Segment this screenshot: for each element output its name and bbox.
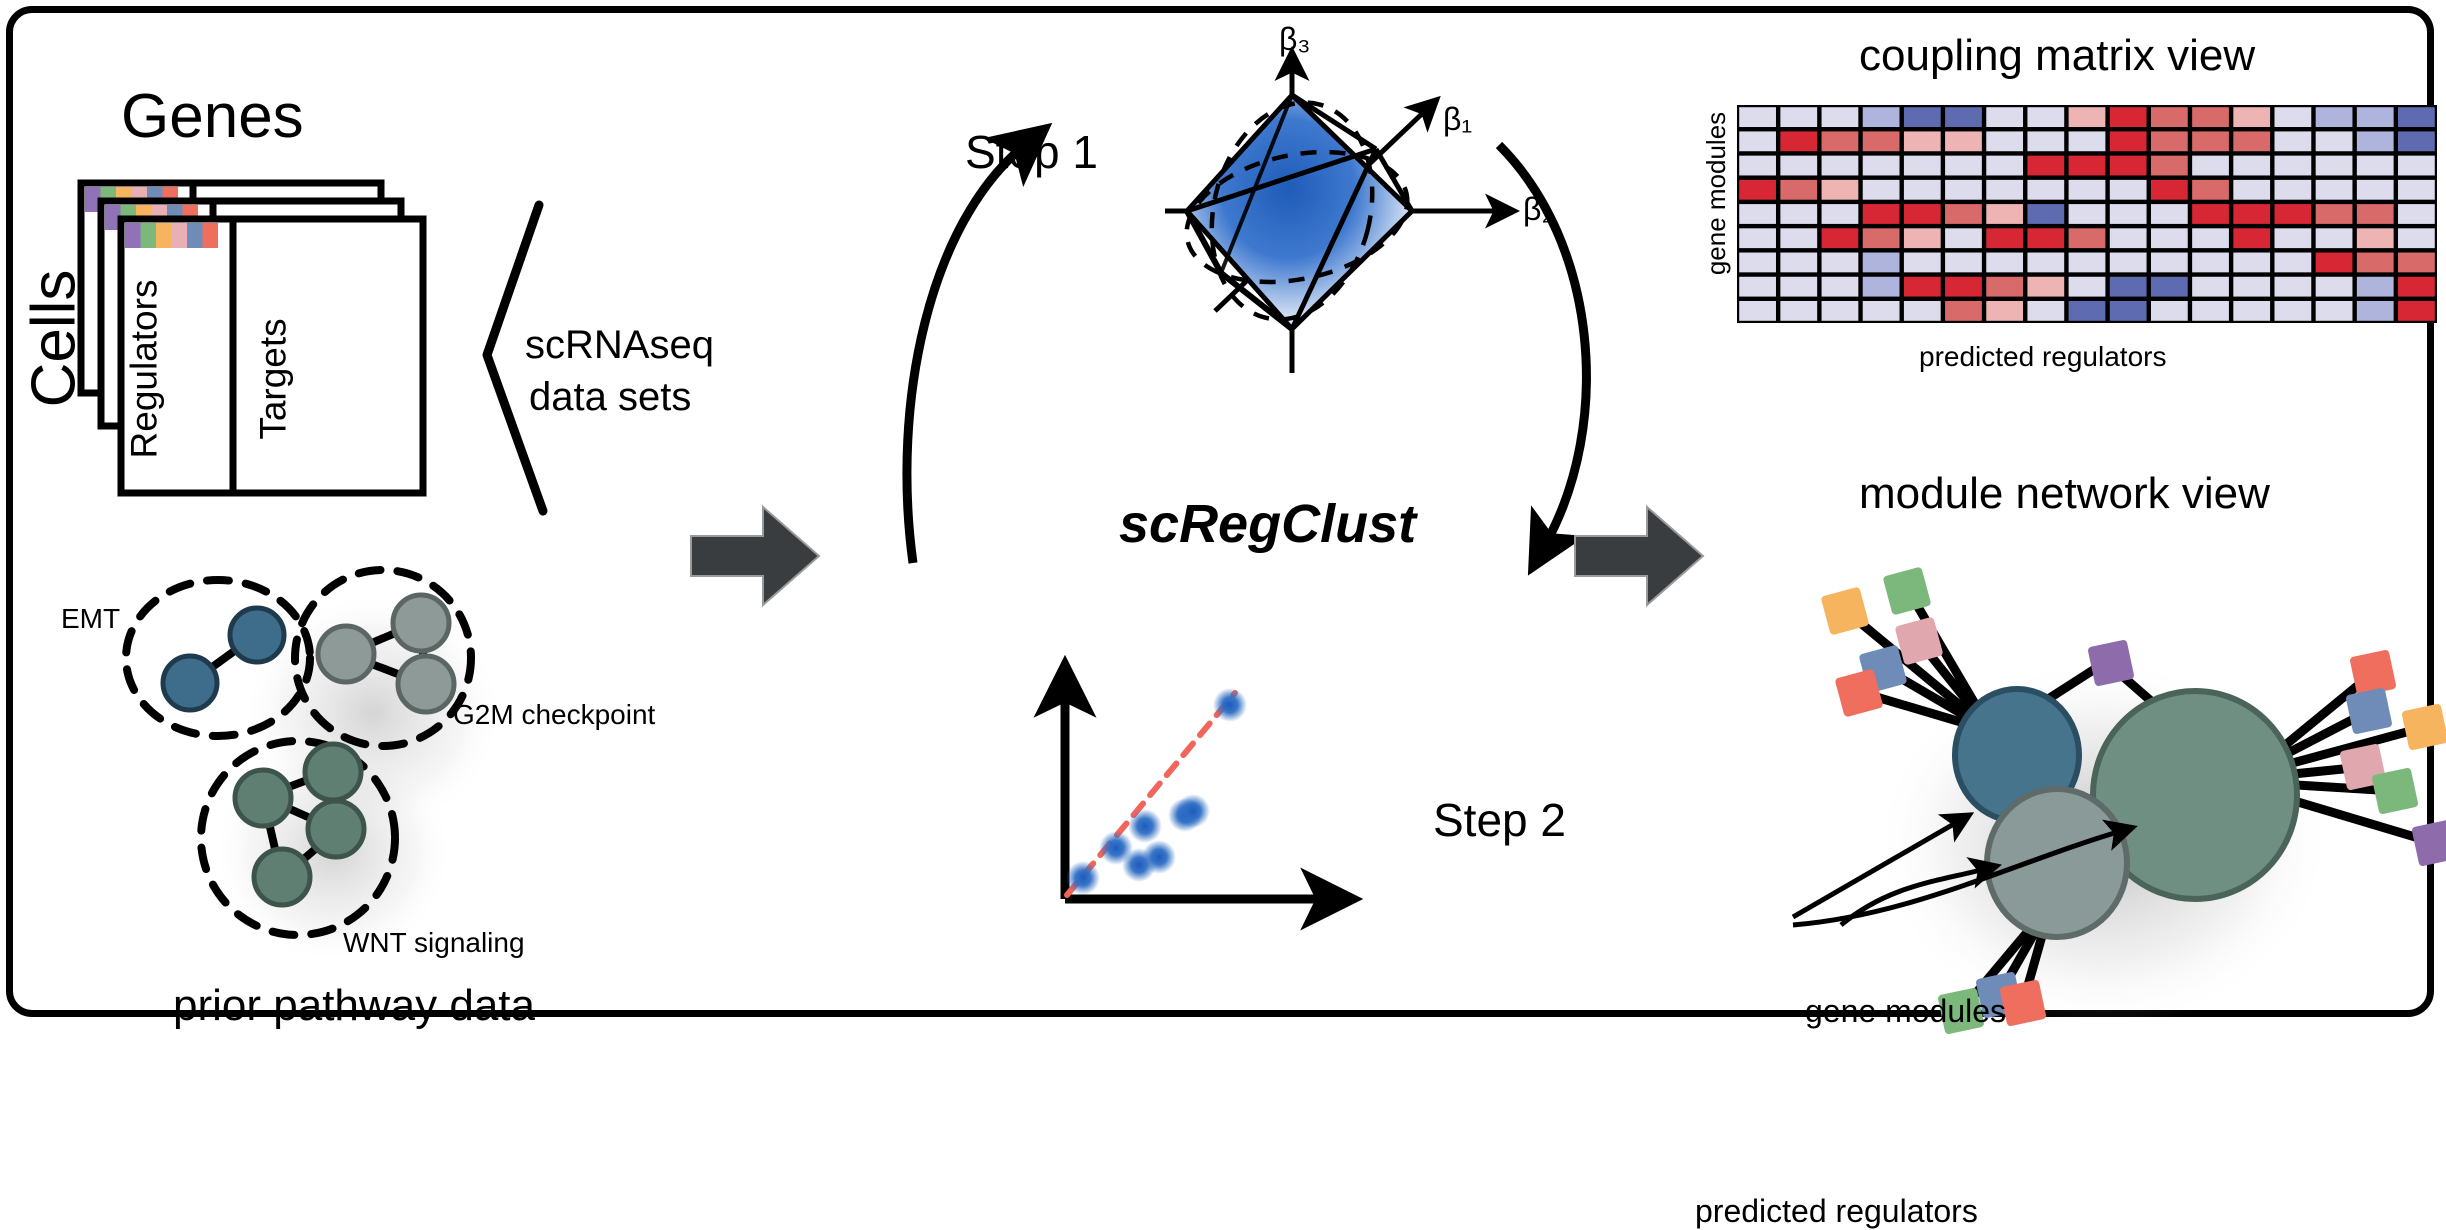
heatmap-cell[interactable] xyxy=(1986,156,2023,176)
heatmap-cell[interactable] xyxy=(1780,204,1817,224)
heatmap-cell[interactable] xyxy=(2233,228,2270,248)
heatmap-cell[interactable] xyxy=(2069,204,2106,224)
heatmap-cell[interactable] xyxy=(1780,156,1817,176)
heatmap-cell[interactable] xyxy=(2274,253,2311,273)
heatmap-cell[interactable] xyxy=(2398,156,2435,176)
heatmap-cell[interactable] xyxy=(1945,156,1982,176)
heatmap-cell[interactable] xyxy=(2357,228,2394,248)
heatmap-cell[interactable] xyxy=(1739,301,1776,321)
heatmap-cell[interactable] xyxy=(1904,228,1941,248)
pathway-label-wnt: WNT signaling xyxy=(343,927,525,959)
heatmap-cell[interactable] xyxy=(1986,228,2023,248)
axis-label-beta3: β₃ xyxy=(1279,21,1310,58)
heatmap-cell[interactable] xyxy=(1945,180,1982,200)
heatmap-cell[interactable] xyxy=(1739,228,1776,248)
heatmap-cell[interactable] xyxy=(2192,180,2229,200)
heatmap-cell[interactable] xyxy=(2316,180,2353,200)
heatmap-cell[interactable] xyxy=(2192,204,2229,224)
coupling-matrix-ylabel: gene modules xyxy=(1701,112,1732,275)
heatmap-cell[interactable] xyxy=(1945,228,1982,248)
heatmap-cell[interactable] xyxy=(2151,204,2188,224)
heatmap-cell[interactable] xyxy=(2398,204,2435,224)
heatmap-cell[interactable] xyxy=(1739,204,1776,224)
heatmap-cell[interactable] xyxy=(1986,301,2023,321)
heatmap-cell[interactable] xyxy=(2110,301,2147,321)
heatmap-cell[interactable] xyxy=(2357,277,2394,297)
heatmap-cell[interactable] xyxy=(1904,301,1941,321)
heatmap-cell[interactable] xyxy=(2398,107,2435,127)
heatmap-cell[interactable] xyxy=(1780,277,1817,297)
heatmap-cell[interactable] xyxy=(2357,253,2394,273)
heatmap-cell[interactable] xyxy=(2316,301,2353,321)
heatmap-cell[interactable] xyxy=(1904,180,1941,200)
heatmap-cell[interactable] xyxy=(1863,131,1900,151)
heatmap-cell[interactable] xyxy=(1822,156,1859,176)
heatmap-cell[interactable] xyxy=(2151,228,2188,248)
heatmap-cell[interactable] xyxy=(2110,107,2147,127)
heatmap-cell[interactable] xyxy=(2274,131,2311,151)
heatmap-cell[interactable] xyxy=(2233,253,2270,273)
heatmap-cell[interactable] xyxy=(2274,277,2311,297)
heatmap-cell[interactable] xyxy=(1904,107,1941,127)
heatmap-cell[interactable] xyxy=(2274,156,2311,176)
heatmap-cell[interactable] xyxy=(2069,107,2106,127)
heatmap-cell[interactable] xyxy=(2069,228,2106,248)
heatmap-cell[interactable] xyxy=(2274,301,2311,321)
heatmap-cell[interactable] xyxy=(2357,131,2394,151)
heatmap-cell[interactable] xyxy=(2027,180,2064,200)
heatmap-cell[interactable] xyxy=(1739,180,1776,200)
axis-label-beta1: β₁ xyxy=(1443,101,1472,138)
heatmap-cell[interactable] xyxy=(2110,253,2147,273)
heatmap-cell[interactable] xyxy=(1986,253,2023,273)
heatmap-cell[interactable] xyxy=(2357,301,2394,321)
heatmap-cell[interactable] xyxy=(2233,180,2270,200)
heatmap-cell[interactable] xyxy=(1822,131,1859,151)
heatmap-cell[interactable] xyxy=(2027,204,2064,224)
heatmap-cell[interactable] xyxy=(2192,107,2229,127)
module-network-panel: module network view xyxy=(1673,433,2446,1033)
heatmap-cell[interactable] xyxy=(1986,180,2023,200)
regulators-block-label: Regulators xyxy=(123,280,165,459)
heatmap-cell[interactable] xyxy=(2027,156,2064,176)
heatmap-cell[interactable] xyxy=(2316,204,2353,224)
coupling-matrix-xlabel: predicted regulators xyxy=(1919,341,2166,373)
coupling-matrix-title: coupling matrix view xyxy=(1859,31,2255,81)
heatmap-cell[interactable] xyxy=(2192,277,2229,297)
heatmap-cell[interactable] xyxy=(1904,277,1941,297)
heatmap-cell[interactable] xyxy=(1863,204,1900,224)
heatmap-cell[interactable] xyxy=(1945,107,1982,127)
module-network-graph xyxy=(1673,533,2446,1033)
heatmap-cell[interactable] xyxy=(1863,277,1900,297)
heatmap-cell[interactable] xyxy=(2316,107,2353,127)
heatmap-cell[interactable] xyxy=(2151,180,2188,200)
heatmap-cell[interactable] xyxy=(1904,204,1941,224)
scatter-chart xyxy=(1017,663,1437,943)
pathway-label-emt: EMT xyxy=(61,603,120,635)
heatmap-cell[interactable] xyxy=(1780,107,1817,127)
heatmap-cell[interactable] xyxy=(2398,301,2435,321)
heatmap-cell[interactable] xyxy=(2192,156,2229,176)
axis-label-beta2: β₂ xyxy=(1523,191,1554,228)
figure-frame: Genes Cells xyxy=(6,6,2434,1017)
heatmap-cell[interactable] xyxy=(2233,301,2270,321)
heatmap-cell[interactable] xyxy=(2027,228,2064,248)
step2-label: Step 2 xyxy=(1433,793,1566,847)
heatmap-cell[interactable] xyxy=(2069,180,2106,200)
heatmap-cell[interactable] xyxy=(2069,301,2106,321)
heatmap-cell[interactable] xyxy=(1780,301,1817,321)
heatmap-cell[interactable] xyxy=(2398,277,2435,297)
heatmap-cell[interactable] xyxy=(2027,131,2064,151)
heatmap-cell[interactable] xyxy=(1822,301,1859,321)
heatmap-cell[interactable] xyxy=(2274,228,2311,248)
scrnaseq-label-line2: data sets xyxy=(529,375,691,420)
pathway-label-g2m: G2M checkpoint xyxy=(453,699,655,731)
heatmap-cell[interactable] xyxy=(1822,204,1859,224)
heatmap-cell[interactable] xyxy=(1822,107,1859,127)
method-panel: Step 1 Step 2 scRegClust xyxy=(873,13,1633,1023)
heatmap-cell[interactable] xyxy=(2110,204,2147,224)
heatmap-cell[interactable] xyxy=(1739,156,1776,176)
heatmap-cell[interactable] xyxy=(2316,228,2353,248)
heatmap-cell[interactable] xyxy=(2316,253,2353,273)
heatmap-cell[interactable] xyxy=(2151,253,2188,273)
heatmap-cell[interactable] xyxy=(1945,277,1982,297)
heatmap-cell[interactable] xyxy=(1739,277,1776,297)
heatmap-cell[interactable] xyxy=(1780,180,1817,200)
heatmap-cell[interactable] xyxy=(2357,107,2394,127)
heatmap-cell[interactable] xyxy=(2316,156,2353,176)
coupling-matrix-heatmap[interactable] xyxy=(1737,105,2437,323)
heatmap-cell[interactable] xyxy=(1863,228,1900,248)
heatmap-cell[interactable] xyxy=(2274,204,2311,224)
heatmap-cell[interactable] xyxy=(2233,204,2270,224)
heatmap-cell[interactable] xyxy=(2027,253,2064,273)
heatmap-cell[interactable] xyxy=(2192,301,2229,321)
heatmap-cell[interactable] xyxy=(2357,204,2394,224)
heatmap-cell[interactable] xyxy=(1986,131,2023,151)
octahedron-body xyxy=(1187,95,1412,329)
heatmap-cell[interactable] xyxy=(2233,277,2270,297)
heatmap-cell[interactable] xyxy=(1904,253,1941,273)
heatmap-cell[interactable] xyxy=(2151,107,2188,127)
heatmap-cell[interactable] xyxy=(2151,156,2188,176)
heatmap-cell[interactable] xyxy=(1945,301,1982,321)
heatmap-cell[interactable] xyxy=(2233,107,2270,127)
heatmap-cell[interactable] xyxy=(2316,131,2353,151)
method-name-label: scRegClust xyxy=(1119,493,1416,555)
heatmap-cell[interactable] xyxy=(2069,277,2106,297)
heatmap-cell[interactable] xyxy=(1986,277,2023,297)
heatmap-cell[interactable] xyxy=(1780,131,1817,151)
heatmap-cell[interactable] xyxy=(1863,180,1900,200)
heatmap-cell[interactable] xyxy=(2192,253,2229,273)
heatmap-cell[interactable] xyxy=(2192,228,2229,248)
flow-arrow-1-icon xyxy=(685,501,825,611)
heatmap-cell[interactable] xyxy=(2110,180,2147,200)
heatmap-cell[interactable] xyxy=(2151,277,2188,297)
heatmap-cell[interactable] xyxy=(1945,204,1982,224)
heatmap-cell[interactable] xyxy=(2069,131,2106,151)
heatmap-cell[interactable] xyxy=(2110,131,2147,151)
heatmap-cell[interactable] xyxy=(1739,107,1776,127)
heatmap-cell[interactable] xyxy=(1780,253,1817,273)
heatmap-cell[interactable] xyxy=(1780,228,1817,248)
heatmap-cell[interactable] xyxy=(2110,228,2147,248)
heatmap-cell[interactable] xyxy=(2398,131,2435,151)
heatmap-cell[interactable] xyxy=(2316,277,2353,297)
octahedron-diagram xyxy=(1129,21,1549,411)
heatmap-cell[interactable] xyxy=(2069,253,2106,273)
scrnaseq-label-line1: scRNAseq xyxy=(525,323,714,368)
heatmap-cell[interactable] xyxy=(2027,301,2064,321)
heatmap-cell[interactable] xyxy=(1986,107,2023,127)
heatmap-cell[interactable] xyxy=(1822,228,1859,248)
heatmap-cell[interactable] xyxy=(1945,131,1982,151)
heatmap-cell[interactable] xyxy=(2151,301,2188,321)
heatmap-cell[interactable] xyxy=(2398,228,2435,248)
heatmap-cell[interactable] xyxy=(2027,107,2064,127)
module-node-gray xyxy=(1987,789,2127,937)
heatmap-cell[interactable] xyxy=(2357,156,2394,176)
gene-modules-annotation: gene modules xyxy=(1805,993,2006,1030)
heatmap-cell[interactable] xyxy=(2357,180,2394,200)
targets-block-label: Targets xyxy=(253,318,295,439)
coupling-matrix-panel: coupling matrix view gene modules predic… xyxy=(1683,13,2446,443)
heatmap-cell[interactable] xyxy=(1863,107,1900,127)
heatmap-cell[interactable] xyxy=(2398,253,2435,273)
heatmap-cell[interactable] xyxy=(2192,131,2229,151)
heatmap-cell[interactable] xyxy=(2274,107,2311,127)
heatmap-cell[interactable] xyxy=(2027,277,2064,297)
genes-axis-label: Genes xyxy=(121,81,304,152)
module-network-title: module network view xyxy=(1859,469,2270,519)
heatmap-cell[interactable] xyxy=(1863,301,1900,321)
heatmap-cell[interactable] xyxy=(1863,253,1900,273)
heatmap-cell[interactable] xyxy=(2069,156,2106,176)
heatmap-cell[interactable] xyxy=(2151,131,2188,151)
heatmap-cell[interactable] xyxy=(2233,131,2270,151)
heatmap-cell[interactable] xyxy=(1945,253,1982,273)
prior-pathway-caption: prior pathway data xyxy=(173,981,535,1031)
heatmap-cell[interactable] xyxy=(1863,156,1900,176)
heatmap-cell[interactable] xyxy=(1822,180,1859,200)
heatmap-cell[interactable] xyxy=(1904,156,1941,176)
input-data-panel: Genes Cells xyxy=(13,13,893,573)
heatmap-cell[interactable] xyxy=(2233,156,2270,176)
heatmap-cell[interactable] xyxy=(1822,277,1859,297)
heatmap-cell[interactable] xyxy=(1739,131,1776,151)
heatmap-cell[interactable] xyxy=(1904,131,1941,151)
heatmap-cell[interactable] xyxy=(2110,156,2147,176)
heatmap-cell[interactable] xyxy=(2274,180,2311,200)
heatmap-cell[interactable] xyxy=(1822,253,1859,273)
heatmap-cell[interactable] xyxy=(1739,253,1776,273)
predicted-regulators-annotation: predicted regulators xyxy=(1695,1193,1978,1230)
prior-pathway-panel: EMT G2M checkpoint WNT signaling prior p… xyxy=(13,553,653,1033)
step1-label: Step 1 xyxy=(965,125,1098,179)
heatmap-cell[interactable] xyxy=(2398,180,2435,200)
heatmap-cell[interactable] xyxy=(2110,277,2147,297)
heatmap-cell[interactable] xyxy=(1986,204,2023,224)
regulator-square-center-purple xyxy=(2087,639,2134,686)
pathway-graph xyxy=(43,553,603,973)
cycle-arrow-up xyxy=(907,145,1025,563)
